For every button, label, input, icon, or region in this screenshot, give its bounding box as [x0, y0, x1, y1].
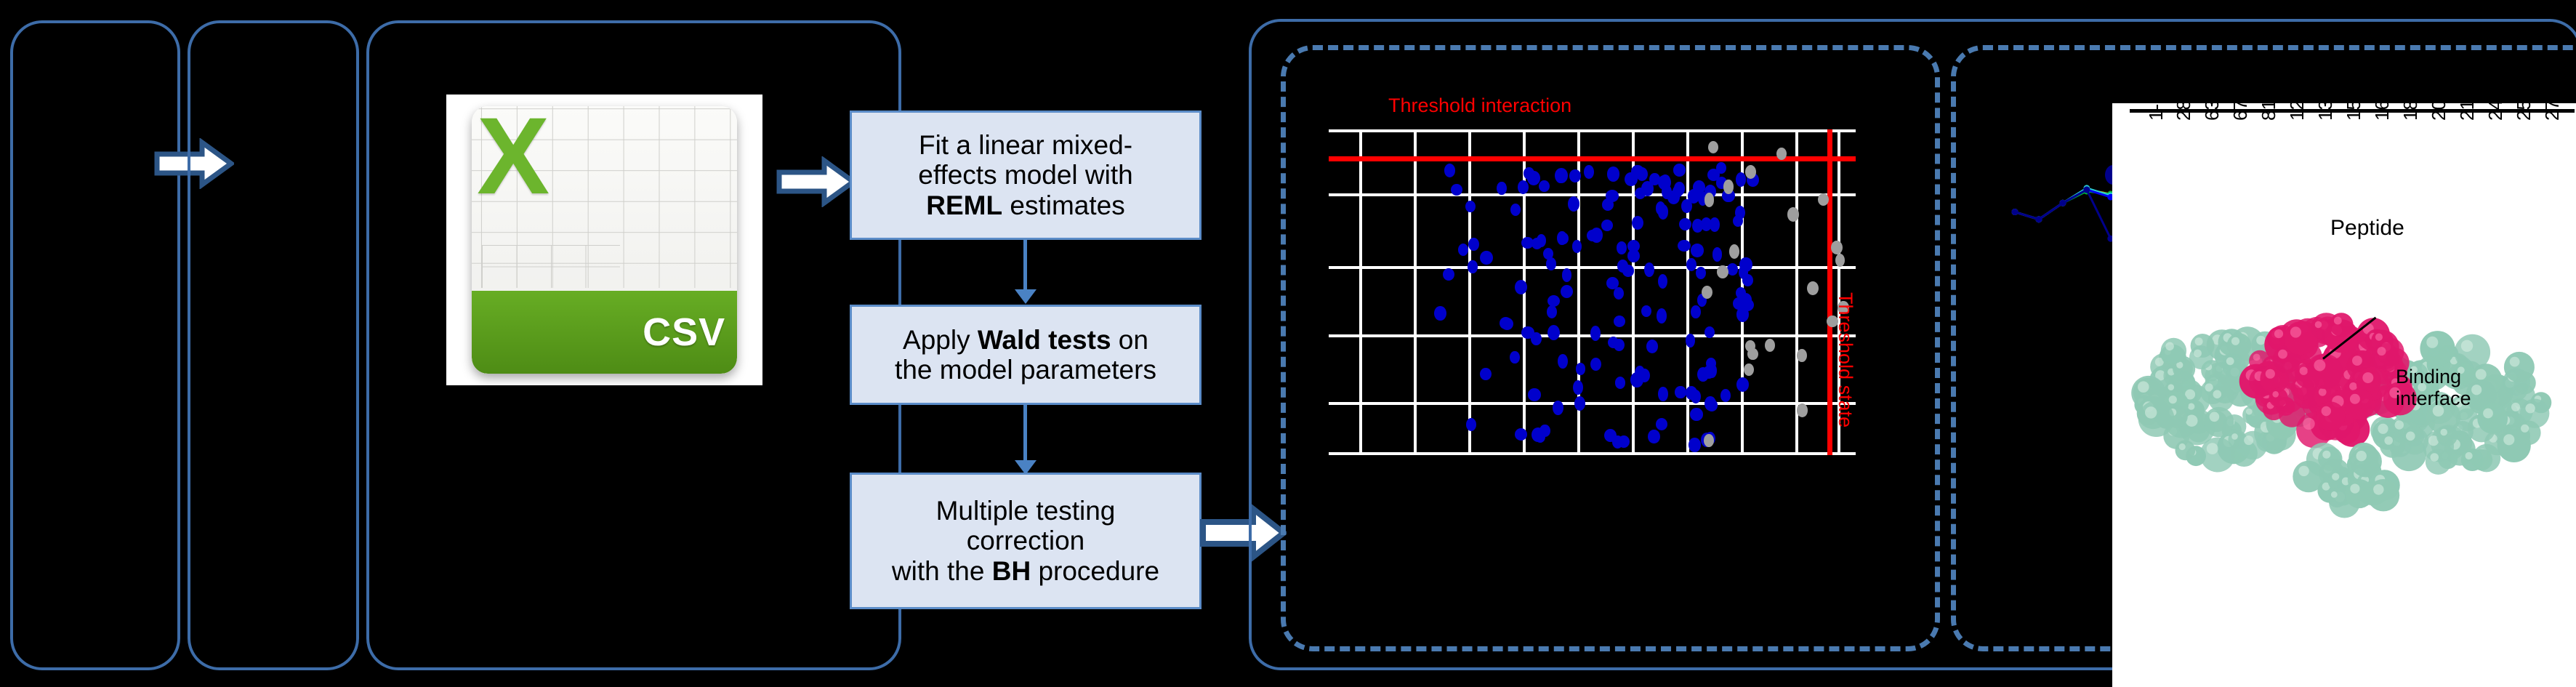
- threshold-state-label: Threshold state: [1834, 292, 1856, 427]
- volcano-point: [1627, 249, 1640, 262]
- volcano-point: [1691, 244, 1704, 257]
- volcano-point: [1569, 169, 1581, 182]
- volcano-point: [1678, 240, 1691, 252]
- volcano-point: [1590, 326, 1601, 341]
- volcano-point: [1572, 240, 1582, 253]
- volcano-point: [1466, 418, 1476, 431]
- volcano-point: [1617, 241, 1627, 254]
- volcano-point: [1559, 233, 1569, 244]
- volcano-point: [1727, 263, 1738, 275]
- volcano-point: [1480, 368, 1491, 380]
- volcano-point: [1673, 164, 1686, 177]
- volcano-point: [1776, 148, 1787, 160]
- volcano-point: [1480, 251, 1493, 265]
- volcano-point: [1686, 334, 1695, 348]
- volcano-point: [1547, 325, 1560, 340]
- volcano-point: [1465, 201, 1476, 212]
- volcano-point: [1515, 428, 1527, 441]
- volcano-point: [1720, 389, 1731, 402]
- volcano-point: [1602, 198, 1614, 211]
- volcano-point: [1797, 403, 1808, 417]
- volcano-point: [1607, 166, 1619, 181]
- volcano-point: [1662, 185, 1672, 199]
- volcano-point: [1674, 182, 1684, 196]
- volcano-point: [1736, 377, 1750, 392]
- volcano-point: [1704, 193, 1715, 207]
- peptide-tick: 277-284: [2541, 103, 2564, 121]
- peptide-tick: 63-73: [2201, 103, 2223, 121]
- volcano-point: [1807, 281, 1819, 295]
- protein-surface-image: [2112, 260, 2576, 572]
- volcano-point: [1537, 234, 1547, 247]
- structure-card: 0.01 1-15 28-44 63-73 67-75 81-101 122-1…: [2112, 103, 2576, 687]
- volcano-point: [1739, 257, 1752, 272]
- volcano-point: [1692, 219, 1703, 233]
- volcano-point: [1561, 285, 1573, 298]
- volcano-point: [1468, 260, 1477, 273]
- volcano-point: [1510, 204, 1521, 216]
- volcano-point: [1818, 193, 1829, 206]
- volcano-point: [1615, 377, 1625, 388]
- peptide-series-marker: [2035, 216, 2042, 222]
- volcano-point: [1708, 141, 1719, 154]
- volcano-point: [1553, 401, 1563, 415]
- volcano-point: [1742, 274, 1753, 286]
- volcano-point: [1690, 408, 1703, 421]
- threshold-interaction-label: Threshold interaction: [1388, 95, 1571, 117]
- peptide-tick: 158-166: [2343, 103, 2365, 121]
- volcano-point: [1747, 348, 1758, 361]
- volcano-point: [1584, 165, 1594, 179]
- volcano-point: [1568, 196, 1579, 212]
- peptide-tick: 200-214: [2428, 103, 2450, 121]
- step-reml-text: Fit a linear mixed- effects model with R…: [918, 130, 1132, 220]
- volcano-point: [1697, 367, 1709, 382]
- volcano-point: [1744, 363, 1754, 376]
- volcano-point: [1656, 201, 1665, 214]
- volcano-point: [1835, 254, 1845, 267]
- peptide-tick: 67-75: [2229, 103, 2252, 121]
- volcano-point: [1614, 287, 1624, 300]
- volcano-point: [1729, 244, 1739, 259]
- peptide-tick: 184-199: [2399, 103, 2422, 121]
- volcano-point: [1745, 165, 1756, 179]
- volcano-point: [1704, 326, 1715, 338]
- volcano-point: [1468, 238, 1479, 251]
- connector-reml-wald-arrowhead: [1015, 289, 1037, 304]
- volcano-point: [1658, 274, 1667, 289]
- volcano-plot: Threshold interaction Threshold state: [1323, 65, 1897, 611]
- volcano-point: [1501, 318, 1513, 330]
- peptide-series-marker: [2059, 200, 2066, 206]
- volcano-point: [1614, 316, 1625, 327]
- volcano-point: [1710, 217, 1720, 232]
- volcano-point: [1573, 380, 1583, 395]
- volcano-point: [1622, 265, 1634, 276]
- volcano-point: [1587, 230, 1598, 241]
- peptide-series-marker: [2012, 209, 2018, 215]
- peptide-tick: 241-257: [2484, 103, 2507, 121]
- volcano-point: [1451, 184, 1462, 196]
- volcano-point: [1702, 286, 1712, 299]
- volcano-point: [1716, 162, 1726, 174]
- volcano-point: [1497, 182, 1507, 196]
- panel-input: [10, 20, 180, 670]
- volcano-point: [1518, 180, 1529, 194]
- step-reml-box[interactable]: Fit a linear mixed- effects model with R…: [850, 111, 1202, 240]
- peptide-axis-label: Peptide: [2330, 216, 2404, 241]
- volcano-point: [1646, 340, 1659, 353]
- volcano-point: [1601, 220, 1613, 232]
- volcano-point: [1691, 390, 1701, 403]
- peptide-series-marker: [2083, 186, 2090, 193]
- panel-csv: [188, 20, 359, 670]
- volcano-point: [1641, 181, 1654, 196]
- volcano-point: [1787, 207, 1799, 221]
- step-bh-text: Multiple testing correction with the BH …: [892, 496, 1159, 586]
- volcano-point: [1717, 265, 1728, 278]
- volcano-point: [1686, 258, 1697, 271]
- volcano-point: [1574, 396, 1585, 411]
- volcano-point: [1691, 305, 1701, 319]
- volcano-point: [1636, 167, 1648, 181]
- volcano-point: [1641, 305, 1651, 317]
- peptide-tick: 258-266: [2513, 103, 2535, 121]
- volcano-point: [1558, 354, 1567, 369]
- volcano-point: [1831, 241, 1843, 255]
- volcano-point: [1515, 280, 1528, 294]
- volcano-point: [1736, 307, 1749, 322]
- volcano-point: [1510, 351, 1519, 363]
- step-wald-text: Apply Wald tests on the model parameters: [895, 325, 1156, 385]
- panel-analysis: [366, 20, 901, 670]
- volcano-point: [1562, 268, 1572, 282]
- volcano-point: [1656, 418, 1667, 430]
- volcano-point: [1632, 216, 1643, 230]
- volcano-point: [1648, 430, 1660, 444]
- volcano-point: [1712, 247, 1723, 262]
- peptide-tick: 81-101: [2258, 103, 2280, 121]
- volcano-point: [1444, 164, 1455, 177]
- volcano-point: [1521, 237, 1534, 249]
- volcano-point: [1458, 244, 1468, 256]
- step-bh-box[interactable]: Multiple testing correction with the BH …: [850, 473, 1202, 609]
- peptide-tick: 28-44: [2173, 103, 2195, 121]
- figure-canvas: X CSV Fit a linear mixed- effects model …: [0, 0, 2576, 687]
- volcano-point: [1689, 438, 1700, 452]
- peptide-tick: 1-15: [2145, 103, 2168, 121]
- step-wald-box[interactable]: Apply Wald tests on the model parameters: [850, 305, 1202, 405]
- peptide-tick-labels: 1-15 28-44 63-73 67-75 81-101 122-129 13…: [2112, 103, 2576, 220]
- volcano-point: [1443, 268, 1454, 281]
- volcano-point: [1590, 358, 1601, 371]
- volcano-point: [1434, 306, 1446, 321]
- volcano-point: [1531, 332, 1542, 345]
- volcano-point-layer: [1329, 129, 1856, 455]
- volcano-point: [1696, 267, 1706, 280]
- volcano-point: [1679, 218, 1691, 230]
- volcano-point: [1704, 434, 1714, 447]
- connector-wald-bh: [1023, 405, 1027, 463]
- connector-reml-wald: [1023, 240, 1027, 292]
- volcano-point: [1614, 339, 1625, 352]
- volcano-point: [1675, 386, 1686, 398]
- peptide-tick: 135-144: [2314, 103, 2337, 121]
- volcano-point: [1797, 349, 1807, 362]
- volcano-point: [1528, 388, 1541, 401]
- binding-interface-label: Binding interface: [2396, 366, 2471, 409]
- volcano-point: [1644, 262, 1654, 277]
- volcano-point: [1547, 295, 1560, 307]
- volcano-point: [1706, 399, 1718, 411]
- volcano-point: [1657, 308, 1667, 324]
- volcano-point: [1736, 172, 1746, 186]
- volcano-point: [1547, 305, 1558, 318]
- volcano-point: [1546, 257, 1556, 270]
- volcano-point: [1576, 363, 1585, 374]
- volcano-point: [1658, 387, 1667, 401]
- peptide-tick: 218-237: [2456, 103, 2479, 121]
- peptide-tick: 167-180: [2371, 103, 2394, 121]
- volcano-point: [1765, 339, 1775, 352]
- volcano-point: [1733, 215, 1743, 227]
- volcano-point: [1723, 180, 1733, 193]
- volcano-point: [1635, 366, 1644, 381]
- volcano-point: [1524, 167, 1534, 180]
- volcano-grid-area: [1329, 129, 1856, 455]
- peptide-tick: 122-129: [2286, 103, 2309, 121]
- volcano-point: [1539, 180, 1550, 193]
- volcano-point: [1531, 427, 1545, 442]
